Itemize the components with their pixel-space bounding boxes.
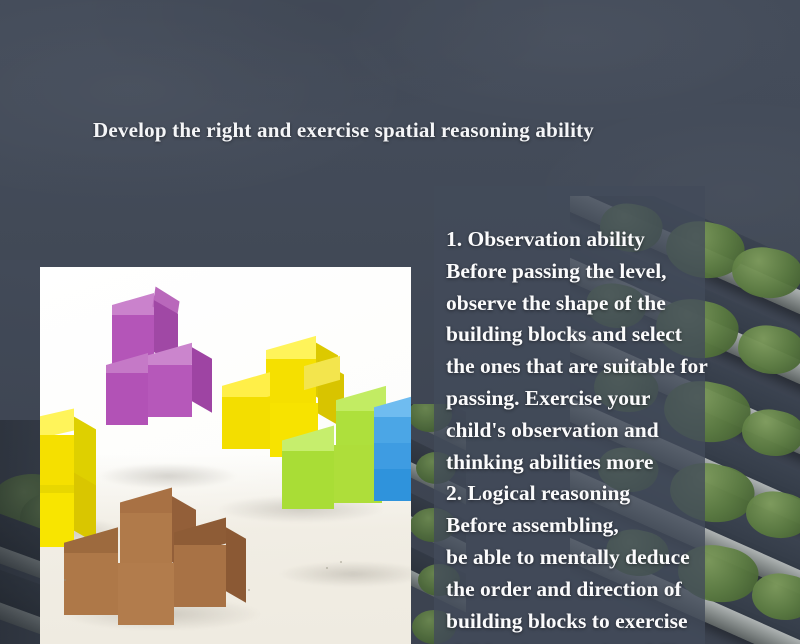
surface-speck	[340, 561, 342, 563]
product-photo	[40, 267, 411, 644]
page-title: Develop the right and exercise spatial r…	[93, 118, 594, 143]
surface-speck	[326, 567, 328, 569]
copy-line: building blocks and select	[446, 319, 798, 351]
copy-line: the order and direction of	[446, 574, 798, 606]
copy-line: be able to mentally deduce	[446, 542, 798, 574]
copy-line: passing. Exercise your	[446, 383, 798, 415]
surface-speck	[248, 589, 250, 591]
copy-line: 1. Observation ability	[446, 224, 798, 256]
banner-stage: Develop the right and exercise spatial r…	[0, 0, 800, 644]
surface-speck	[64, 579, 66, 581]
feature-description: 1. Observation ability Before passing th…	[446, 224, 798, 644]
copy-line: 2. Logical reasoning	[446, 478, 798, 510]
copy-line: the ones that are suitable for	[446, 351, 798, 383]
copy-line: children's reasoning ability	[446, 637, 798, 644]
copy-line: building blocks to exercise	[446, 606, 798, 638]
copy-line: Before assembling,	[446, 510, 798, 542]
copy-line: child's observation and	[446, 415, 798, 447]
copy-line: thinking abilities more	[446, 447, 798, 479]
copy-line: observe the shape of the	[446, 288, 798, 320]
copy-line: Before passing the level,	[446, 256, 798, 288]
